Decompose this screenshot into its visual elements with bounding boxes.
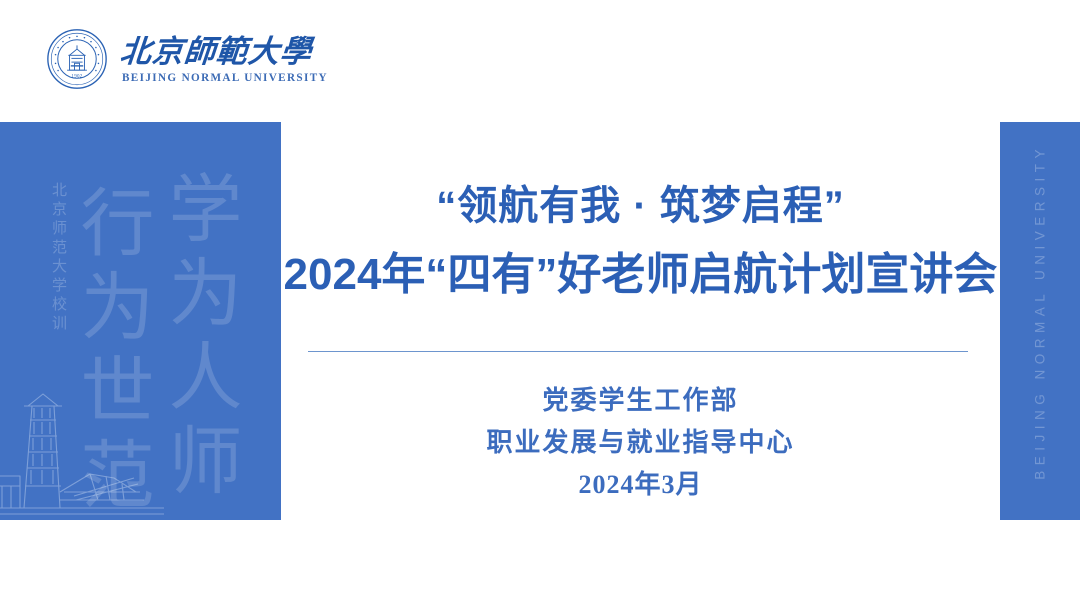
logo-english-name: BEIJING NORMAL UNIVERSITY [120, 72, 328, 84]
slide-date: 2024年3月 [281, 464, 1000, 506]
slide-content-area: “领航有我 · 筑梦启程” 2024年“四有”好老师启航计划宣讲会 党委学生工作… [281, 122, 1000, 520]
presentation-slide: 1902 北京師範大學 BEIJING NORMAL UNIVERSITY 学为… [0, 0, 1080, 606]
title-divider-rule [308, 351, 968, 352]
slide-header: 1902 北京師範大學 BEIJING NORMAL UNIVERSITY [0, 0, 1080, 122]
left-decorative-panel: 学为人师 行为世范 北京师范大学校训 [0, 122, 281, 520]
slide-title-line-2: 2024年“四有”好老师启航计划宣讲会 [281, 246, 1000, 305]
university-logo-lockup: 1902 北京師範大學 BEIJING NORMAL UNIVERSITY [46, 28, 328, 90]
slide-title-line-1: “领航有我 · 筑梦启程” [281, 180, 1000, 234]
subtitle-block: 党委学生工作部 职业发展与就业指导中心 2024年3月 [281, 380, 1000, 506]
bell-tower-line-art-icon [0, 388, 164, 520]
organizer-line-1: 党委学生工作部 [281, 380, 1000, 422]
svg-text:1902: 1902 [71, 75, 82, 80]
right-decorative-panel: BEIJING NORMAL UNIVERSITY [1000, 122, 1080, 520]
right-panel-vertical-label: BEIJING NORMAL UNIVERSITY [1033, 144, 1048, 480]
motto-caption-text: 北京师范大学校训 [48, 182, 69, 334]
university-seal-icon: 1902 [46, 28, 108, 90]
logo-wordmark: 北京師範大學 BEIJING NORMAL UNIVERSITY [120, 34, 328, 85]
logo-chinese-name: 北京師範大學 [119, 36, 330, 69]
organizer-line-2: 职业发展与就业指导中心 [281, 422, 1000, 464]
title-block: “领航有我 · 筑梦启程” 2024年“四有”好老师启航计划宣讲会 [281, 180, 1000, 305]
